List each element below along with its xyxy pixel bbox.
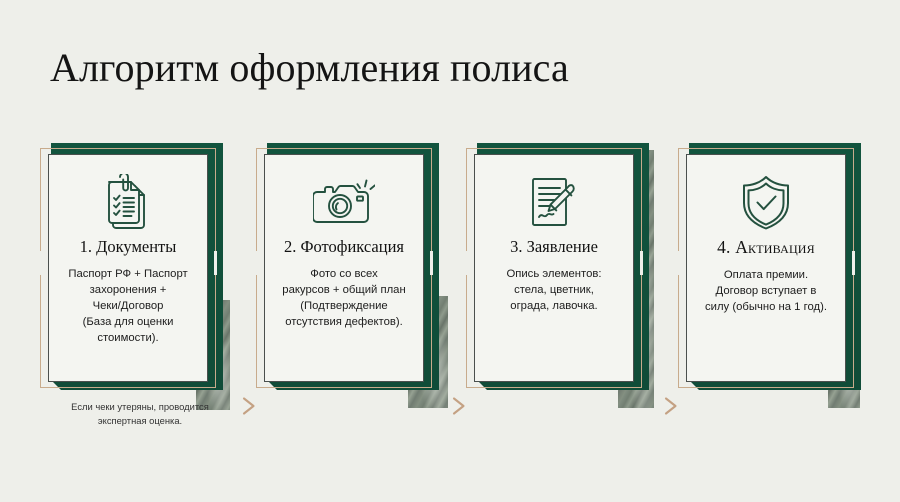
camera-icon bbox=[313, 171, 375, 233]
arrow-step3-to-step4 bbox=[632, 395, 682, 417]
card-body: 4. Активация Оплата премии. Договор всту… bbox=[686, 154, 846, 382]
document-pen-signature-icon bbox=[527, 171, 581, 233]
step-heading: 2. Фотофиксация bbox=[284, 237, 404, 257]
clipboard-checklist-icon bbox=[103, 171, 153, 233]
step-description: Фото со всех ракурсов + общий план (Подт… bbox=[282, 266, 405, 331]
step-heading: 4. Активация bbox=[717, 237, 815, 258]
step-card-3[interactable]: 3. Заявление Опись элементов: стела, цве… bbox=[466, 140, 646, 395]
step-card-1[interactable]: 1. Документы Паспорт РФ + Паспорт захоро… bbox=[40, 140, 220, 395]
step-description: Оплата премии. Договор вступает в силу (… bbox=[705, 267, 827, 315]
step-card-4[interactable]: 4. Активация Оплата премии. Договор всту… bbox=[678, 140, 858, 395]
arrow-step2-to-step3 bbox=[420, 395, 470, 417]
card-body: 2. Фотофиксация Фото со всех ракурсов + … bbox=[264, 154, 424, 382]
shield-check-icon bbox=[740, 171, 792, 233]
card-body: 1. Документы Паспорт РФ + Паспорт захоро… bbox=[48, 154, 208, 382]
step-card-2[interactable]: 2. Фотофиксация Фото со всех ракурсов + … bbox=[256, 140, 436, 395]
page-title: Алгоритм оформления полиса bbox=[50, 46, 569, 91]
step-description: Паспорт РФ + Паспорт захоронения + Чеки/… bbox=[68, 266, 187, 347]
step-heading: 3. Заявление bbox=[510, 237, 598, 257]
footnote-text: Если чеки утеряны, проводится экспертная… bbox=[40, 400, 240, 428]
step-description: Опись элементов: стела, цветник, ограда,… bbox=[506, 266, 601, 314]
card-body: 3. Заявление Опись элементов: стела, цве… bbox=[474, 154, 634, 382]
steps-flow: 1. Документы Паспорт РФ + Паспорт захоро… bbox=[0, 140, 900, 410]
step-heading: 1. Документы bbox=[80, 237, 177, 257]
